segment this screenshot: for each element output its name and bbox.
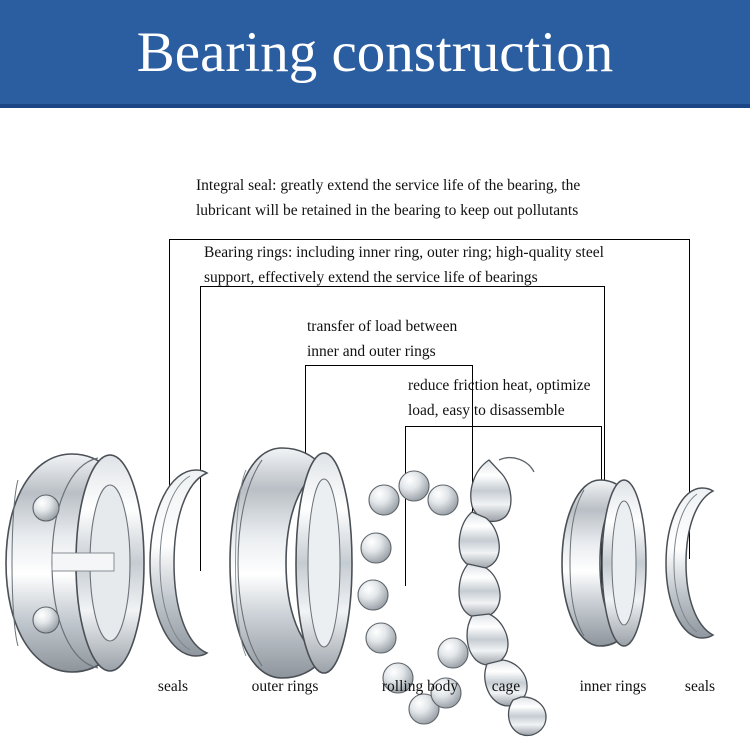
label-cage: cage xyxy=(466,678,546,696)
part-outer-ring xyxy=(230,448,352,678)
bearing-parts-illustration xyxy=(0,108,750,750)
part-seal-right xyxy=(666,488,713,638)
label-seals-left: seals xyxy=(118,678,228,696)
part-assembled-bearing xyxy=(6,454,144,672)
part-inner-ring xyxy=(562,480,646,646)
page-header: Bearing construction xyxy=(0,0,750,104)
label-outer-rings: outer rings xyxy=(220,678,350,696)
label-seals-right: seals xyxy=(660,678,740,696)
part-seal-left xyxy=(150,470,207,656)
diagram-canvas: Integral seal: greatly extend the servic… xyxy=(0,108,750,750)
page-title: Bearing construction xyxy=(137,24,613,81)
label-inner-rings: inner rings xyxy=(553,678,673,696)
